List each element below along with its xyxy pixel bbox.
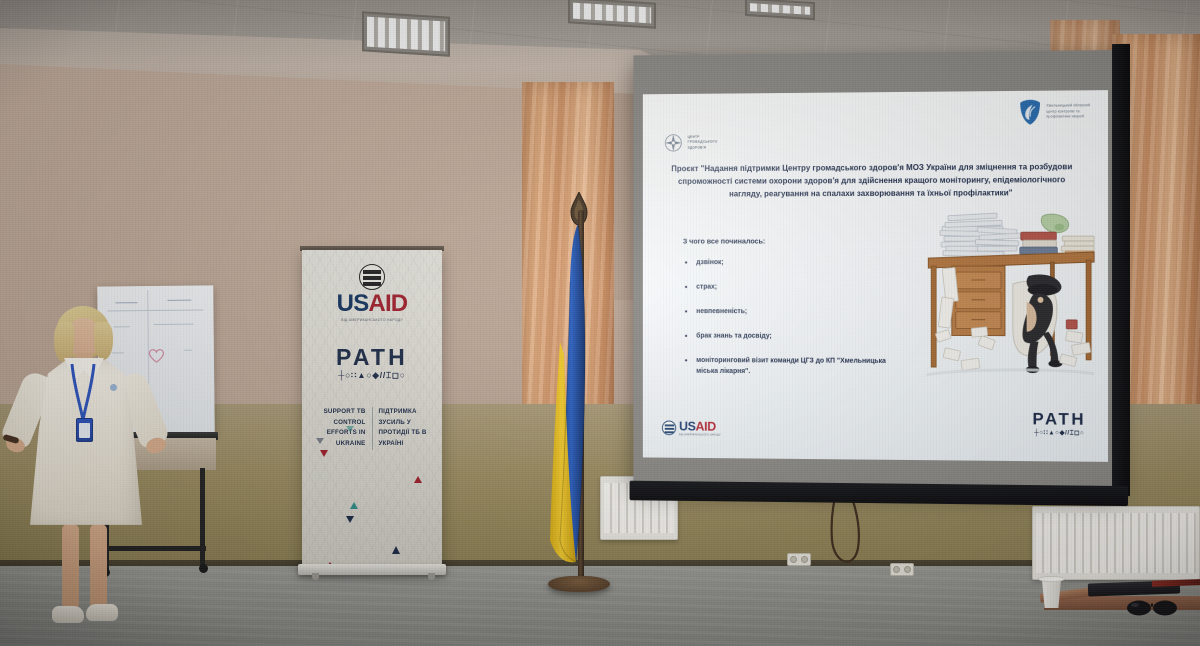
slide-title: Проєкт "Надання підтримки Центру громадс…	[668, 160, 1077, 201]
banner-triangle-icon	[350, 502, 358, 509]
banner-path-wordmark: PATH	[302, 346, 442, 369]
lapel-pin-icon	[110, 384, 117, 391]
radiator	[1032, 506, 1200, 580]
presenter-shoe	[52, 606, 84, 623]
usaid-aid-text: AID	[368, 290, 407, 317]
banner-usaid-tagline: ВІД АМЕРИКАНСЬКОГО НАРОДУ	[302, 318, 442, 322]
rollup-banner: USAID ВІД АМЕРИКАНСЬКОГО НАРОДУ PATH ┼○∷…	[302, 250, 442, 572]
sunglasses	[1126, 598, 1178, 616]
ukraine-flag	[546, 222, 596, 572]
slide-bullet: брак знань та досвіду;	[685, 332, 903, 343]
presenter-shoe	[86, 604, 118, 621]
id-badge	[76, 418, 93, 442]
presenter-hair-side	[54, 322, 74, 362]
flag-stand-base	[548, 576, 610, 592]
shield-icon	[1019, 99, 1042, 126]
usaid-seal-icon	[662, 420, 676, 435]
regional-center-logo-text: Хмельницький обласний центр контролю та …	[1046, 103, 1090, 121]
banner-base	[298, 564, 446, 575]
compass-star-icon	[664, 133, 683, 153]
usaid-us-text: US	[679, 419, 695, 434]
banner-triangle-icon	[316, 438, 324, 444]
paper-cup-rim	[1038, 576, 1065, 582]
banner-triangle-icon	[346, 516, 354, 523]
banner-foot	[312, 573, 319, 580]
slide-bullet: невпевненість;	[685, 307, 903, 318]
regional-center-logo: Хмельницький обласний центр контролю та …	[1019, 98, 1091, 125]
slide-bullet: моніторинговий візит команди ЦГЗ до КП "…	[685, 356, 903, 378]
desk-illustration	[919, 210, 1103, 392]
slide-path-logo: PATH ┼○∷▲○◆//⌶◻○	[1032, 410, 1086, 437]
slide-usaid-logo: USAID ВІД АМЕРИКАНСЬКОГО НАРОДУ	[662, 419, 721, 436]
usaid-seal-icon	[359, 264, 385, 290]
projection-screen: ЦЕНТР ГРОМАДСЬКОГО ЗДОРОВ'Я Хмельницький…	[633, 50, 1120, 490]
power-outlet[interactable]	[787, 553, 811, 566]
ceiling-light-icon	[362, 11, 450, 56]
presenter-leg	[90, 524, 107, 610]
power-outlet[interactable]	[890, 563, 914, 576]
presentation-slide: ЦЕНТР ГРОМАДСЬКОГО ЗДОРОВ'Я Хмельницький…	[643, 90, 1108, 462]
conference-room-photo: USAID ВІД АМЕРИКАНСЬКОГО НАРОДУ PATH ┼○∷…	[0, 0, 1200, 646]
cph-logo-text: ЦЕНТР ГРОМАДСЬКОГО ЗДОРОВ'Я	[688, 135, 718, 150]
screen-edge	[1112, 44, 1130, 496]
banner-triangle-icon	[320, 450, 328, 457]
lanyard	[68, 364, 98, 424]
banner-usaid-wordmark: USAID	[302, 292, 442, 316]
usaid-tagline: ВІД АМЕРИКАНСЬКОГО НАРОДУ	[679, 433, 721, 436]
cph-logo: ЦЕНТР ГРОМАДСЬКОГО ЗДОРОВ'Я	[664, 133, 718, 153]
easel-wheel	[199, 564, 208, 573]
path-symbols: ┼○∷▲○◆//⌶◻○	[1032, 428, 1086, 437]
banner-triangle-icon	[392, 546, 400, 554]
banner-triangle-icon	[414, 476, 422, 483]
slide-bullet-list: дзвінок; страх; невпевненість; брак знан…	[685, 258, 903, 392]
slide-bullet: дзвінок;	[685, 258, 903, 268]
usaid-us-text: US	[337, 290, 369, 317]
presenter-hair-side	[94, 322, 113, 360]
usaid-aid-text: AID	[696, 419, 716, 434]
banner-path-symbols: ┼○∷▲○◆//⌶◻○	[302, 370, 442, 381]
banner-triangle-icon	[346, 426, 354, 432]
banner-slogan-ukrainian: ПІДТРИМКА ЗУСИЛЬ У ПРОТИДІЇ ТБ В УКРАЇНІ	[373, 407, 435, 450]
easel-leg	[200, 468, 205, 568]
presenter	[6, 306, 174, 646]
slide-bullet: страх;	[685, 283, 903, 294]
presenter-leg	[62, 524, 79, 610]
path-wordmark: PATH	[1032, 410, 1086, 427]
usaid-wordmark: USAID	[679, 420, 721, 433]
slide-lead-text: З чого все починалось:	[683, 237, 765, 246]
banner-foot	[428, 573, 435, 580]
